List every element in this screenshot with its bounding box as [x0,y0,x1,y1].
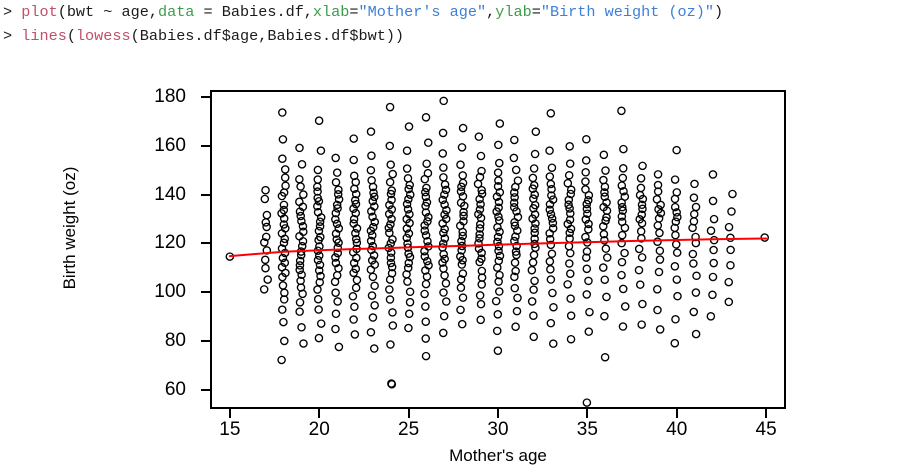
data-point [619,174,626,181]
data-point [441,313,448,320]
data-point [389,309,396,316]
data-point [656,229,663,236]
data-point [387,161,394,168]
data-point [350,156,357,163]
data-point [690,194,697,201]
data-point [656,247,663,254]
data-point [443,298,450,305]
data-point [457,306,464,313]
data-point [654,238,661,245]
y-tick [201,145,210,147]
data-point [332,325,339,332]
data-point [279,306,286,313]
data-point [349,293,356,300]
data-point [585,277,592,284]
data-point [478,281,485,288]
data-point [389,322,396,329]
data-point [709,291,716,298]
data-point [421,290,428,297]
data-point [567,250,574,257]
data-point [621,224,628,231]
data-point [638,321,645,328]
data-point [369,314,376,321]
data-point [727,262,734,269]
data-point [547,320,554,327]
data-point [282,174,289,181]
r-console[interactable]: > plot(bwt ~ age,data = Babies.df,xlab="… [0,0,905,58]
data-point [282,166,289,173]
data-point [656,256,663,263]
data-point [567,270,574,277]
data-point [316,117,323,124]
data-point [386,103,393,110]
data-point [386,142,393,149]
data-point [600,176,607,183]
data-point [261,286,268,293]
data-points-layer [212,92,784,407]
data-point [332,289,339,296]
data-point [457,161,464,168]
console-token: lowess [76,27,131,45]
data-point [496,159,503,166]
data-point [459,172,466,179]
data-point [547,276,554,283]
data-point [512,323,519,330]
data-point [530,312,537,319]
data-point [530,333,537,340]
data-point [422,281,429,288]
y-tick-label: 180 [0,86,200,108]
data-point [550,340,557,347]
data-point [367,167,374,174]
data-point [367,128,374,135]
data-point [296,308,303,315]
data-point [296,299,303,306]
data-point [655,268,662,275]
data-point [585,328,592,335]
y-tick [201,389,210,391]
data-point [353,276,360,283]
data-point [550,225,557,232]
data-point [654,222,661,229]
data-point [549,289,556,296]
data-point [442,280,449,287]
data-point [439,150,446,157]
data-point [636,245,643,252]
console-token: = [532,3,541,21]
data-point [439,129,446,136]
data-point [602,245,609,252]
console-token: (Babies.df$age,Babies.df$bwt)) [131,27,404,45]
data-point [709,171,716,178]
data-point [604,254,611,261]
data-point [262,256,269,263]
data-point [546,173,553,180]
data-point [495,247,502,254]
data-point [332,179,339,186]
data-point [546,258,553,265]
data-point [314,166,321,173]
data-point [531,277,538,284]
console-token: plot [21,3,57,21]
data-point [350,316,357,323]
data-point [298,161,305,168]
data-point [637,184,644,191]
data-point [707,313,714,320]
y-tick-label: 80 [0,330,200,352]
console-token: , [486,3,495,21]
data-point [405,196,412,203]
data-point [459,294,466,301]
data-point [511,136,518,143]
data-point [550,304,557,311]
data-point [281,337,288,344]
data-point [602,354,609,361]
data-point [314,176,321,183]
data-point [639,254,646,261]
data-point [529,174,536,181]
console-token: "Mother's age" [359,3,487,21]
data-point [404,175,411,182]
data-point [620,285,627,292]
data-point [494,347,501,354]
data-point [387,179,394,186]
data-point [476,206,483,213]
data-point [422,353,429,360]
data-point [407,288,414,295]
data-point [692,203,699,210]
data-point [404,278,411,285]
data-point [403,147,410,154]
data-point [458,261,465,268]
x-tick-label: 40 [666,419,687,441]
x-tick [408,409,410,418]
data-point [351,331,358,338]
data-point [280,319,287,326]
data-point [279,282,286,289]
data-point [674,249,681,256]
data-point [693,272,700,279]
data-point [279,136,286,143]
console-token: > [3,3,21,21]
y-tick [201,96,210,98]
data-point [351,303,358,310]
data-point [621,249,628,256]
data-point [673,147,680,154]
data-point [440,174,447,181]
data-point [421,227,428,234]
data-point [298,324,305,331]
data-point [332,154,339,161]
console-token: = [349,3,358,21]
data-point [459,321,466,328]
data-point [494,311,501,318]
data-point [440,164,447,171]
x-tick-label: 15 [219,419,240,441]
data-point [440,97,447,104]
data-point [618,259,625,266]
data-point [422,114,429,121]
data-point [602,167,609,174]
data-point [389,170,396,177]
data-point [689,250,696,257]
data-point [315,306,322,313]
data-point [709,197,716,204]
data-point [583,291,590,298]
data-point [422,303,429,310]
data-point [548,164,555,171]
data-point [477,292,484,299]
data-point [386,296,393,303]
data-point [296,198,303,205]
data-point [296,176,303,183]
data-point [583,399,590,406]
data-point [618,107,625,114]
data-point [567,295,574,302]
data-point [654,286,661,293]
data-point [672,316,679,323]
data-point [583,136,590,143]
x-tick-label: 45 [756,419,777,441]
console-token: ) [714,3,723,21]
data-point [406,299,413,306]
console-line-1: > plot(bwt ~ age,data = Babies.df,xlab="… [3,0,723,25]
data-point [440,329,447,336]
data-point [335,343,342,350]
data-point [725,298,732,305]
data-point [671,340,678,347]
data-point [620,165,627,172]
x-tick [586,409,588,418]
y-tick [201,194,210,196]
data-point [532,128,539,135]
data-point [494,327,501,334]
x-tick-label: 20 [309,419,330,441]
data-point [639,300,646,307]
data-point [548,250,555,257]
data-point [547,266,554,273]
scatterplot-figure: Birth weight (oz) 6080100120140160180 15… [0,58,905,462]
data-point [728,208,735,215]
data-point [495,257,502,264]
data-point [513,308,520,315]
data-point [282,182,289,189]
data-point [513,166,520,173]
console-token: ylab [495,3,531,21]
data-point [566,143,573,150]
data-point [315,296,322,303]
y-tick-label: 120 [0,232,200,254]
y-tick-label: 60 [0,379,200,401]
data-point [528,267,535,274]
data-point [477,316,484,323]
data-point [639,162,646,169]
data-point [387,341,394,348]
data-point [404,165,411,172]
data-point [690,308,697,315]
data-point [654,171,661,178]
data-point [261,195,268,202]
data-point [547,110,554,117]
data-point [601,313,608,320]
data-point [441,211,448,218]
data-point [600,264,607,271]
data-point [333,220,340,227]
data-point [710,259,717,266]
data-point [425,139,432,146]
data-point [405,324,412,331]
data-point [511,259,518,266]
data-point [477,152,484,159]
data-point [672,232,679,239]
y-tick-label: 100 [0,281,200,303]
data-point [586,309,593,316]
x-tick [229,409,231,418]
console-token: "Birth weight (oz)" [541,3,714,21]
data-point [334,298,341,305]
data-point [546,147,553,154]
plot-area [212,92,784,407]
data-point [496,288,503,295]
data-point [622,303,629,310]
x-tick [318,409,320,418]
x-tick-label: 30 [487,419,508,441]
x-tick [497,409,499,418]
data-point [529,259,536,266]
data-point [582,178,589,185]
y-tick-label: 140 [0,184,200,206]
plot-panel [210,90,786,409]
screenshot-root: > plot(bwt ~ age,data = Babies.df,xlab="… [0,0,905,462]
console-token: lines [21,27,67,45]
data-point [709,273,716,280]
data-point [477,301,484,308]
data-point [350,135,357,142]
console-token: > [3,27,21,45]
x-axis-title: Mother's age [449,446,547,466]
data-point [674,214,681,221]
data-point [318,320,325,327]
data-point [567,336,574,343]
data-point [421,176,428,183]
data-point [368,152,375,159]
x-tick-label: 35 [577,419,598,441]
y-tick-label: 160 [0,135,200,157]
data-point [603,293,610,300]
data-point [635,267,642,274]
y-tick [201,242,210,244]
data-point [331,278,338,285]
data-point [531,165,538,172]
data-point [673,276,680,283]
data-point [671,195,678,202]
data-point [620,145,627,152]
data-point [297,183,304,190]
data-point [514,294,521,301]
data-point [727,234,734,241]
data-point [263,223,270,230]
data-point [279,109,286,116]
data-point [583,265,590,272]
data-point [296,233,303,240]
data-point [367,266,374,273]
data-point [530,251,537,258]
console-token: = Babies.df, [194,3,312,21]
data-point [300,340,307,347]
x-tick-label: 25 [398,419,419,441]
data-point [725,279,732,286]
data-point [440,289,447,296]
x-tick [676,409,678,418]
data-point [567,160,574,167]
data-point [729,190,736,197]
data-point [568,312,575,319]
data-point [367,329,374,336]
data-point [458,144,465,151]
data-point [422,318,429,325]
data-point [423,160,430,167]
console-line-2: > lines(lowess(Babies.df$age,Babies.df$b… [3,24,404,49]
data-point [674,293,681,300]
data-point [600,151,607,158]
data-point [386,286,393,293]
data-point [637,281,644,288]
data-point [619,232,626,239]
data-point [566,260,573,267]
data-point [727,246,734,253]
data-point [368,292,375,299]
data-point [654,306,661,313]
data-point [371,282,378,289]
data-point [422,335,429,342]
data-point [637,175,644,182]
data-point [707,227,714,234]
data-point [332,310,339,317]
console-token: xlab [313,3,349,21]
data-point [691,211,698,218]
data-point [530,286,537,293]
data-point [495,169,502,176]
data-point [262,265,269,272]
console-token: ( [67,27,76,45]
data-point [494,224,501,231]
data-point [353,284,360,291]
data-point [619,323,626,330]
data-point [264,276,271,283]
data-point [278,356,285,363]
y-tick [201,291,210,293]
data-point [334,169,341,176]
data-point [672,176,679,183]
data-point [457,284,464,291]
data-point [529,298,536,305]
data-point [460,124,467,131]
data-point [296,144,303,151]
data-point [691,180,698,187]
data-point [494,264,501,271]
data-point [371,302,378,309]
data-point [511,285,518,292]
data-point [263,211,270,218]
data-point [692,289,699,296]
data-point [657,201,664,208]
data-point [583,157,590,164]
data-point [657,326,664,333]
data-point [564,281,571,288]
x-tick [765,409,767,418]
data-point [315,334,322,341]
data-point [262,187,269,194]
